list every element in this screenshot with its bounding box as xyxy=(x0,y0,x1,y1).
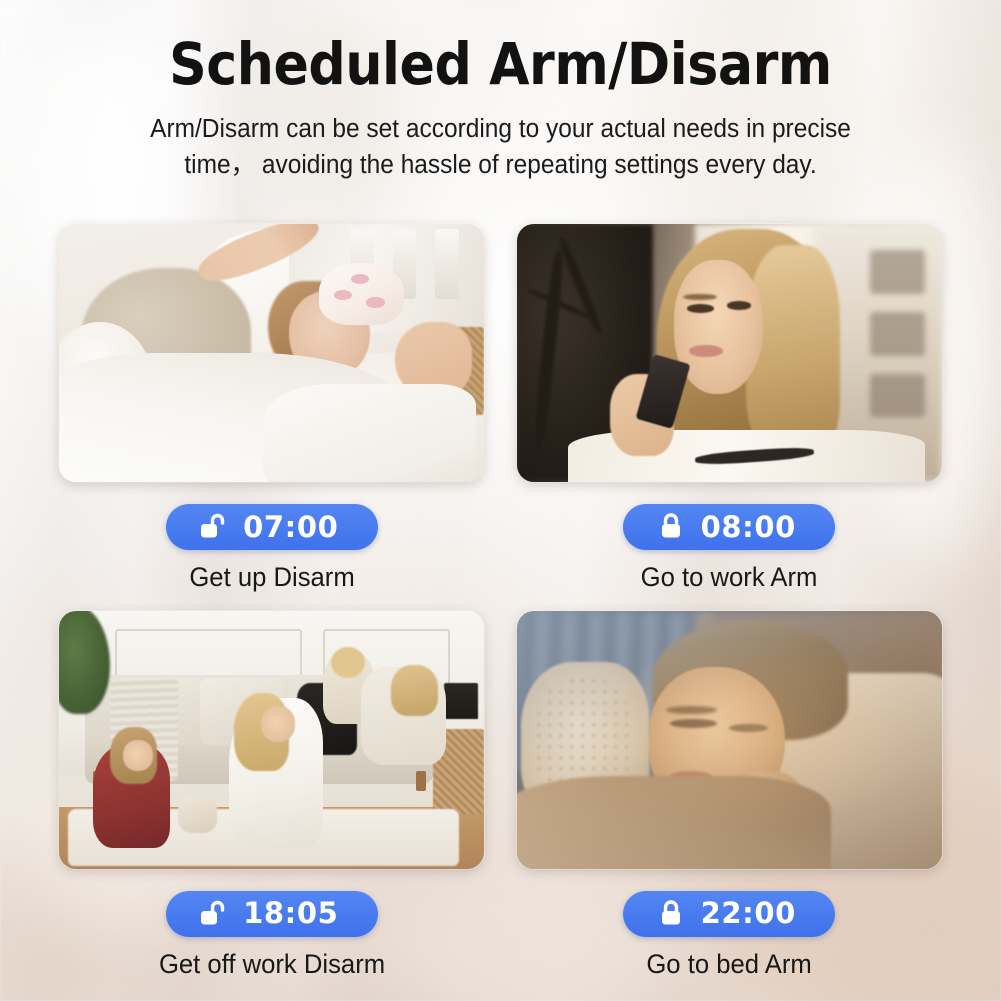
schedule-time: 22:00 xyxy=(701,899,796,928)
schedule-time: 08:00 xyxy=(701,513,796,542)
schedule-badge-go-to-work[interactable]: 08:00 xyxy=(623,504,835,550)
schedule-card-go-to-work: 08:00 Go to work Arm xyxy=(514,224,946,593)
photo-get-up xyxy=(59,224,484,482)
page-subtitle: Arm/Disarm can be set according to your … xyxy=(20,111,981,183)
photo-go-to-bed xyxy=(517,611,942,869)
schedule-card-get-up: 07:00 Get up Disarm xyxy=(56,224,488,593)
schedule-time: 18:05 xyxy=(243,899,338,928)
schedule-card-get-off-work: 18:05 Get off work Disarm xyxy=(56,611,488,980)
unlock-icon xyxy=(199,899,227,929)
unlock-icon xyxy=(199,512,227,542)
page-title: Scheduled Arm/Disarm xyxy=(50,34,951,95)
schedule-time: 07:00 xyxy=(243,513,338,542)
lock-icon xyxy=(657,512,685,542)
schedule-caption-go-to-work: Go to work Arm xyxy=(641,563,818,593)
schedule-card-go-to-bed: 22:00 Go to bed Arm xyxy=(514,611,946,980)
schedule-badge-get-up[interactable]: 07:00 xyxy=(166,504,378,550)
subtitle-line-2: time， avoiding the hassle of repeating s… xyxy=(20,147,981,183)
schedule-badge-go-to-bed[interactable]: 22:00 xyxy=(623,891,835,937)
schedule-caption-go-to-bed: Go to bed Arm xyxy=(647,950,812,980)
schedule-badge-get-off-work[interactable]: 18:05 xyxy=(166,891,378,937)
lock-icon xyxy=(657,899,685,929)
schedule-caption-get-up: Get up Disarm xyxy=(189,563,354,593)
subtitle-line-1: Arm/Disarm can be set according to your … xyxy=(20,111,981,147)
schedule-grid: 07:00 Get up Disarm xyxy=(56,224,945,979)
header: Scheduled Arm/Disarm Arm/Disarm can be s… xyxy=(0,0,1001,183)
photo-go-to-work xyxy=(517,224,942,482)
photo-get-off-work xyxy=(59,611,484,869)
schedule-caption-get-off-work: Get off work Disarm xyxy=(159,950,385,980)
